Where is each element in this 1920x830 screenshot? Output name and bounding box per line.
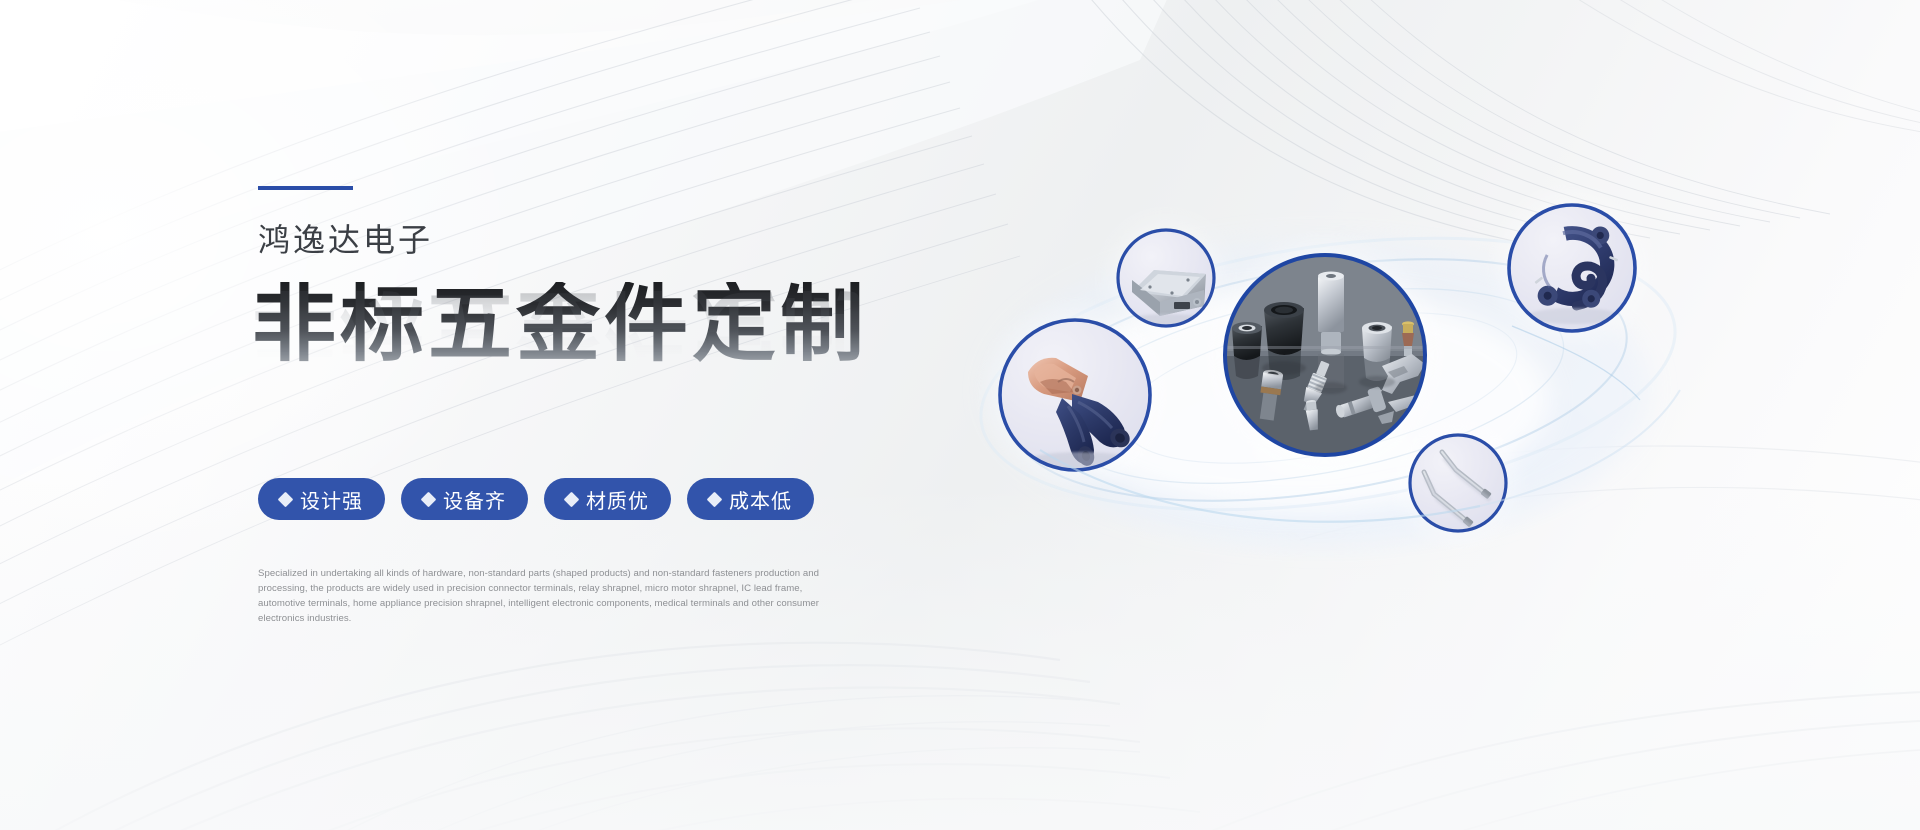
accent-rule bbox=[258, 186, 353, 190]
feature-pill-label: 设计强 bbox=[300, 485, 363, 514]
circle-precision-parts bbox=[1219, 249, 1431, 461]
feature-pill-design[interactable]: 设计强 bbox=[258, 478, 385, 520]
diamond-icon bbox=[278, 491, 294, 507]
feature-pill-label: 设备齐 bbox=[443, 485, 506, 514]
feature-pill-label: 成本低 bbox=[729, 485, 792, 514]
feature-pill-material[interactable]: 材质优 bbox=[544, 478, 671, 520]
circle-battery-clamp bbox=[995, 315, 1155, 475]
feature-pill-cost[interactable]: 成本低 bbox=[687, 478, 814, 520]
circle-retaining-ring bbox=[1504, 200, 1640, 336]
diamond-icon bbox=[707, 491, 723, 507]
circle-metal-enclosure-box bbox=[1114, 226, 1218, 330]
product-showcase bbox=[920, 150, 1740, 620]
page-title-reflection: 非标五金件定制 bbox=[252, 284, 868, 370]
headline-wrapper: 非标五金件定制 非标五金件定制 bbox=[252, 282, 858, 414]
feature-pill-row: 设计强 设备齐 材质优 成本低 bbox=[258, 478, 858, 520]
feature-pill-equipment[interactable]: 设备齐 bbox=[401, 478, 528, 520]
hero-banner: 鸿逸达电子 非标五金件定制 非标五金件定制 设计强 设备齐 材质优 成本低 bbox=[0, 0, 1920, 830]
diamond-icon bbox=[421, 491, 437, 507]
feature-pill-label: 材质优 bbox=[586, 485, 649, 514]
banner-text-column: 鸿逸达电子 非标五金件定制 非标五金件定制 设计强 设备齐 材质优 成本低 bbox=[258, 186, 858, 636]
circle-hex-keys bbox=[1406, 431, 1510, 535]
brand-subtitle: 鸿逸达电子 bbox=[258, 224, 858, 256]
diamond-icon bbox=[564, 491, 580, 507]
banner-description: Specialized in undertaking all kinds of … bbox=[258, 566, 833, 627]
